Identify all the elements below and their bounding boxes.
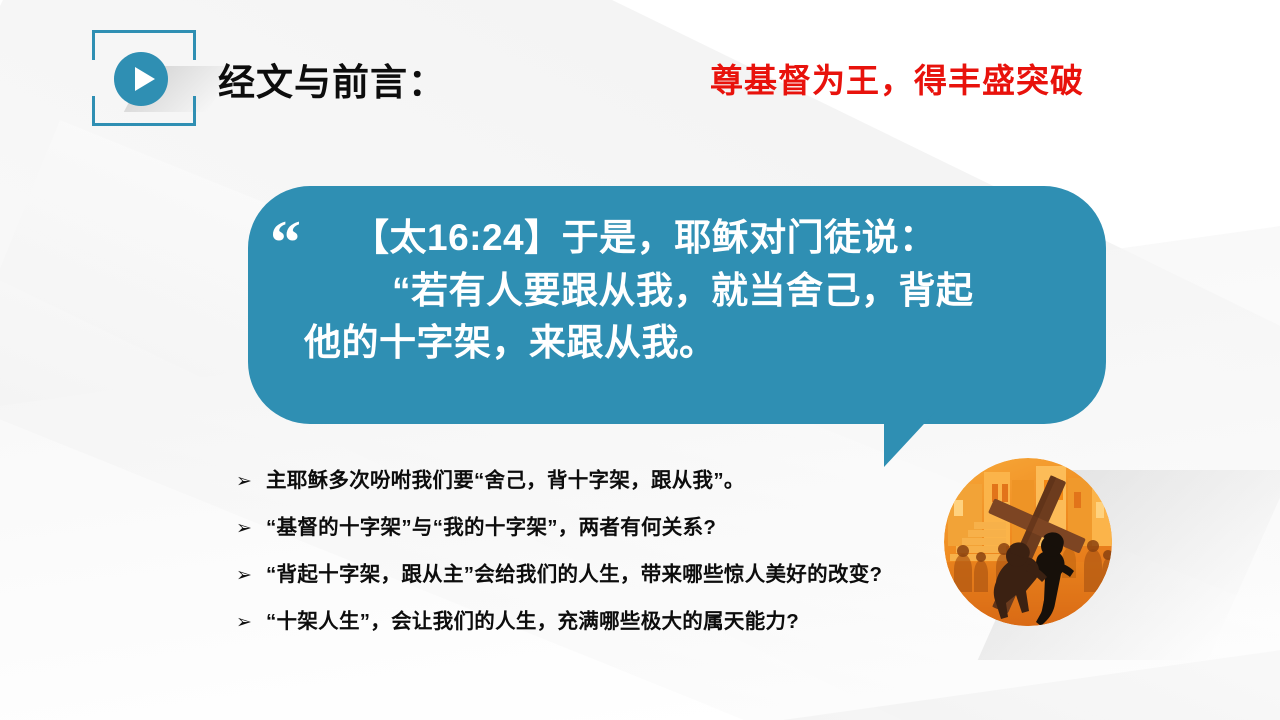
bubble-tail [884, 411, 946, 467]
page-subtitle: 尊基督为王，得丰盛突破 [710, 54, 1084, 102]
list-item-label: “十架人生”，会让我们的人生，充满哪些极大的属天能力? [266, 607, 926, 636]
list-item-label: “基督的十字架”与“我的十字架”，两者有何关系? [266, 513, 926, 542]
play-button-logo[interactable] [92, 30, 196, 126]
list-item-label: 主耶稣多次吩咐我们要“舍己，背十字架，跟从我”。 [266, 466, 926, 495]
page-title: 经文与前言： [218, 52, 446, 106]
scripture-quote-bubble: “ 【太16:24】于是，耶稣对门徒说： “若有人要跟从我，就当舍己，背起 他的… [248, 186, 1106, 456]
slide-header: 经文与前言： 尊基督为王，得丰盛突破 [0, 0, 1280, 145]
arrow-bullet-icon: ➢ [236, 560, 266, 590]
list-item[interactable]: ➢ “背起十字架，跟从主”会给我们的人生，带来哪些惊人美好的改变? [236, 560, 926, 590]
list-item[interactable]: ➢ “基督的十字架”与“我的十字架”，两者有何关系? [236, 513, 926, 543]
arrow-bullet-icon: ➢ [236, 607, 266, 637]
quote-line-1: 【太16:24】于是，耶稣对门徒说： [304, 212, 1094, 265]
discussion-points-list: ➢ 主耶稣多次吩咐我们要“舍己，背十字架，跟从我”。 ➢ “基督的十字架”与“我… [236, 466, 926, 654]
list-item[interactable]: ➢ “十架人生”，会让我们的人生，充满哪些极大的属天能力? [236, 607, 926, 637]
list-item[interactable]: ➢ 主耶稣多次吩咐我们要“舍己，背十字架，跟从我”。 [236, 466, 926, 496]
list-item-label: “背起十字架，跟从主”会给我们的人生，带来哪些惊人美好的改变? [266, 560, 926, 589]
bubble-body: “ 【太16:24】于是，耶稣对门徒说： “若有人要跟从我，就当舍己，背起 他的… [248, 186, 1106, 424]
carrying-the-cross-image [944, 458, 1112, 626]
slide: 经文与前言： 尊基督为王，得丰盛突破 “ 【太16:24】于是，耶稣对门徒说： … [0, 0, 1280, 720]
play-icon[interactable] [114, 52, 168, 106]
quote-line-3: 他的十字架，来跟从我。 [304, 317, 1094, 370]
play-triangle-icon [135, 67, 155, 91]
quote-line-2: “若有人要跟从我，就当舍己，背起 [304, 265, 1094, 318]
quote-text: 【太16:24】于是，耶稣对门徒说： “若有人要跟从我，就当舍己，背起 他的十字… [304, 212, 1094, 370]
arrow-bullet-icon: ➢ [236, 513, 266, 543]
arrow-bullet-icon: ➢ [236, 466, 266, 496]
carrying-the-cross-illustration [944, 458, 1112, 626]
quote-mark-icon: “ [270, 212, 301, 274]
